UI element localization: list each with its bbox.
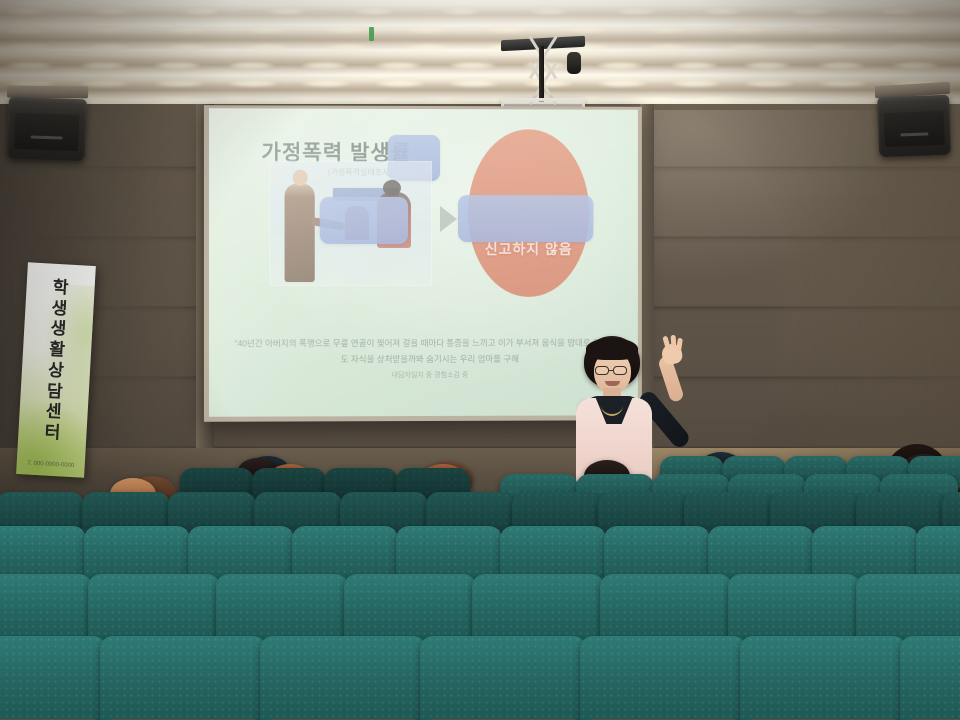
- ceiling-light: [617, 8, 655, 15]
- ceiling-light: [355, 8, 393, 15]
- ceiling-light: [449, 62, 496, 69]
- inset-figure-presenter: [285, 184, 315, 282]
- ceiling-light: [326, 44, 370, 51]
- auditorium-seat[interactable]: [900, 636, 960, 720]
- ceiling-light: [301, 80, 351, 87]
- ceiling-light: [246, 26, 287, 33]
- ceiling-light: [268, 8, 306, 15]
- lecture-hall-photo: 가정폭력 발생률 (가정폭력실태조사) 신고하지 않음 "40년간 아버지의 폭…: [0, 0, 960, 720]
- wall-speaker-left: [7, 93, 87, 158]
- photo-redaction-box: [320, 197, 408, 244]
- projector-pole: [539, 46, 544, 102]
- auditorium-seat[interactable]: [420, 636, 586, 720]
- ceiling-light: [375, 80, 425, 87]
- presenter-finger: [676, 338, 683, 352]
- auditorium-seat[interactable]: [580, 636, 746, 720]
- ceiling-light: [646, 26, 687, 33]
- ceiling-light: [417, 97, 470, 104]
- ceiling-light: [486, 26, 527, 33]
- ceiling-light: [326, 26, 367, 33]
- ceiling-light: [301, 62, 348, 69]
- ceiling-light: [228, 80, 278, 87]
- slide-ellipse-label: 신고하지 않음: [468, 239, 589, 259]
- green-clip-icon: [369, 27, 374, 41]
- glasses-icon: [595, 366, 609, 375]
- speaker-box: [7, 97, 87, 162]
- ceiling-light: [228, 62, 275, 69]
- ceiling-light: [597, 80, 647, 87]
- speaker-grill: [884, 111, 944, 148]
- banner-title: 학생생활상담센터: [18, 276, 95, 445]
- speaker-grill: [14, 113, 79, 151]
- ceiling-light: [449, 80, 499, 87]
- ceiling-light: [375, 62, 422, 69]
- ceiling-light: [406, 26, 447, 33]
- slide-arrow-icon: [440, 206, 457, 232]
- auditorium-seating: [0, 448, 960, 720]
- auditorium-seat[interactable]: [0, 636, 106, 720]
- auditorium-seat[interactable]: [260, 636, 426, 720]
- presenter-fringe: [586, 338, 638, 360]
- auditorium-seat[interactable]: [740, 636, 906, 720]
- ceiling-light: [623, 97, 676, 104]
- ceiling-light: [406, 44, 450, 51]
- wall-speaker-right: [877, 91, 951, 153]
- ceiling-light: [566, 26, 607, 33]
- speaker-box: [877, 95, 951, 157]
- roll-up-banner: 학생생활상담센터 T. 000-0000-0000: [16, 262, 96, 477]
- glasses-bridge: [609, 370, 614, 371]
- presenter-finger: [671, 335, 677, 348]
- ceiling: [0, 0, 960, 112]
- security-camera-icon: [567, 52, 581, 74]
- slide-caption-line1: "40년간 아버지의 폭행으로 무릎 연골이 찢어져 걸을 때마다 통증을 느끼…: [234, 338, 495, 348]
- ceiling-light: [280, 97, 333, 104]
- ceiling-light: [646, 44, 690, 51]
- glasses-icon: [613, 366, 627, 375]
- ceiling-light: [597, 62, 644, 69]
- ceiling-light: [246, 44, 290, 51]
- banner-char-7: 터: [18, 421, 87, 445]
- ceiling-light: [530, 8, 568, 15]
- ceiling-light: [442, 8, 480, 15]
- auditorium-seat[interactable]: [100, 636, 266, 720]
- ellipse-redaction-box: [458, 195, 593, 242]
- ceiling-light: [349, 97, 402, 104]
